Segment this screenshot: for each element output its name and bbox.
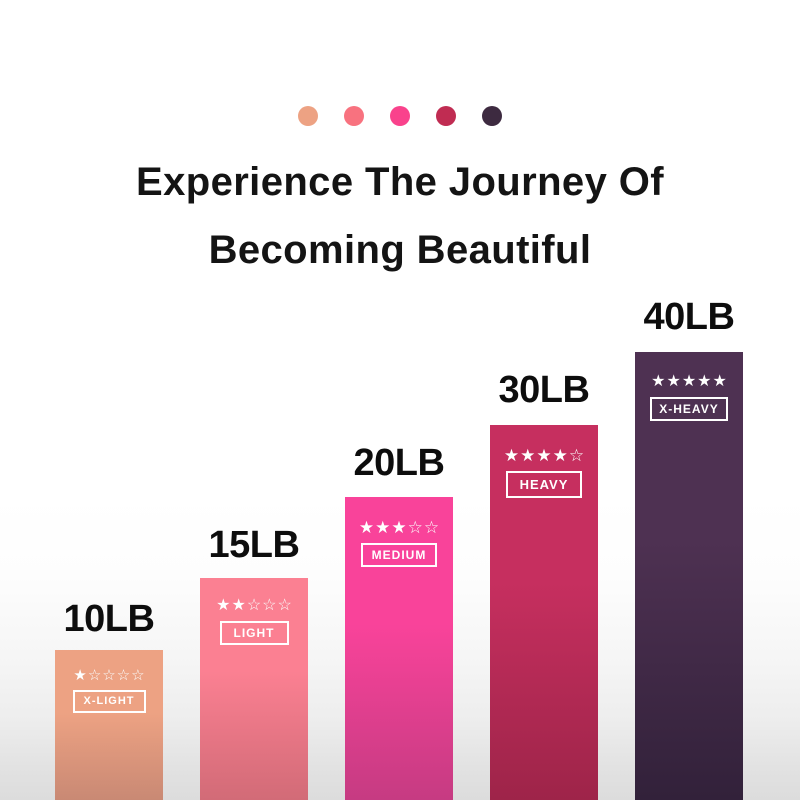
- star-empty-icon: ☆: [424, 519, 439, 536]
- bar-content: ★★★★☆HEAVY: [490, 447, 598, 498]
- star-empty-icon: ☆: [102, 668, 115, 683]
- star-rating: ★☆☆☆☆: [73, 668, 144, 683]
- star-empty-icon: ☆: [131, 668, 144, 683]
- infographic-poster: Experience The Journey Of Becoming Beaut…: [0, 0, 800, 800]
- bar-group-40lb[interactable]: 40LB★★★★★X-HEAVY: [635, 352, 743, 800]
- star-empty-icon: ☆: [408, 519, 423, 536]
- bar-weight-label: 30LB: [499, 369, 590, 412]
- resistance-badge: X-HEAVY: [650, 397, 727, 421]
- star-filled-icon: ★: [504, 447, 519, 464]
- bar-column[interactable]: ★★★★★X-HEAVY: [635, 352, 743, 800]
- star-filled-icon: ★: [391, 519, 406, 536]
- resistance-badge: X-LIGHT: [73, 690, 146, 713]
- star-filled-icon: ★: [682, 374, 696, 390]
- bar-weight-label: 10LB: [64, 598, 155, 641]
- star-rating: ★★★★☆: [504, 447, 584, 464]
- bar-group-20lb[interactable]: 20LB★★★☆☆MEDIUM: [345, 497, 453, 800]
- star-empty-icon: ☆: [247, 598, 261, 614]
- bar-content: ★★☆☆☆LIGHT: [200, 598, 308, 645]
- star-filled-icon: ★: [536, 447, 551, 464]
- bar-content: ★★★☆☆MEDIUM: [345, 519, 453, 567]
- bar-group-30lb[interactable]: 30LB★★★★☆HEAVY: [490, 425, 598, 800]
- bar-group-15lb[interactable]: 15LB★★☆☆☆LIGHT: [200, 578, 308, 800]
- bar-column[interactable]: ★★★☆☆MEDIUM: [345, 497, 453, 800]
- bar-column[interactable]: ★☆☆☆☆X-LIGHT: [55, 650, 163, 800]
- star-filled-icon: ★: [666, 374, 680, 390]
- star-filled-icon: ★: [697, 374, 711, 390]
- star-filled-icon: ★: [231, 598, 245, 614]
- star-rating: ★★★★★: [651, 374, 727, 390]
- star-empty-icon: ☆: [262, 598, 276, 614]
- bar-column[interactable]: ★★★★☆HEAVY: [490, 425, 598, 800]
- bar-group-10lb[interactable]: 10LB★☆☆☆☆X-LIGHT: [55, 650, 163, 800]
- bar-weight-label: 15LB: [209, 524, 300, 567]
- bar-weight-label: 40LB: [644, 296, 735, 339]
- star-empty-icon: ☆: [278, 598, 292, 614]
- bar-weight-label: 20LB: [354, 442, 445, 485]
- star-empty-icon: ☆: [569, 447, 584, 464]
- star-filled-icon: ★: [553, 447, 568, 464]
- star-filled-icon: ★: [73, 668, 86, 683]
- star-empty-icon: ☆: [117, 668, 130, 683]
- resistance-badge: MEDIUM: [361, 543, 438, 567]
- bar-content: ★☆☆☆☆X-LIGHT: [55, 668, 163, 713]
- star-filled-icon: ★: [713, 374, 727, 390]
- star-filled-icon: ★: [216, 598, 230, 614]
- star-filled-icon: ★: [359, 519, 374, 536]
- star-filled-icon: ★: [520, 447, 535, 464]
- star-rating: ★★★☆☆: [359, 519, 439, 536]
- star-empty-icon: ☆: [88, 668, 101, 683]
- bar-content: ★★★★★X-HEAVY: [635, 374, 743, 421]
- bar-column[interactable]: ★★☆☆☆LIGHT: [200, 578, 308, 800]
- resistance-bar-chart: 10LB★☆☆☆☆X-LIGHT15LB★★☆☆☆LIGHT20LB★★★☆☆M…: [0, 0, 800, 800]
- star-rating: ★★☆☆☆: [216, 598, 292, 614]
- resistance-badge: HEAVY: [506, 471, 583, 498]
- star-filled-icon: ★: [375, 519, 390, 536]
- star-filled-icon: ★: [651, 374, 665, 390]
- resistance-badge: LIGHT: [220, 621, 289, 645]
